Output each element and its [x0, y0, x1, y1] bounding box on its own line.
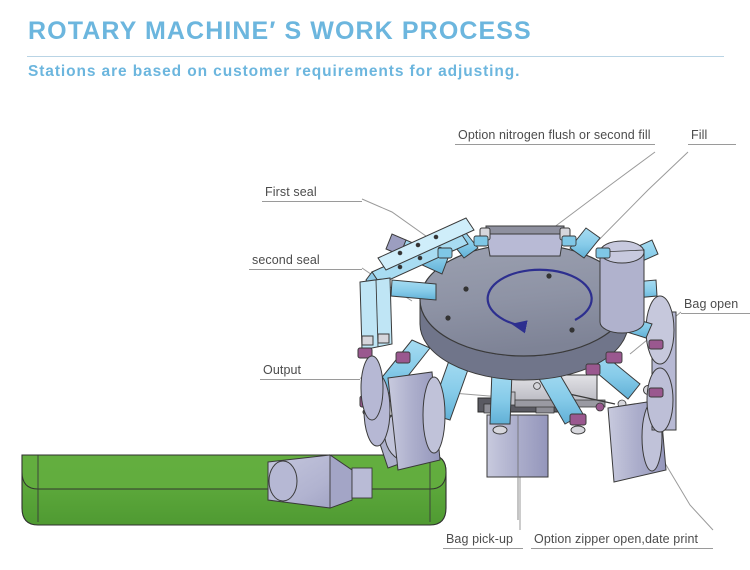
- callout-underline: [260, 379, 360, 380]
- callout-underline: [262, 201, 362, 202]
- callout-label: Output: [260, 363, 360, 379]
- callout-underline: [443, 548, 523, 549]
- callout-label: First seal: [262, 185, 362, 201]
- callout-first-seal: First seal: [262, 185, 362, 202]
- callout-second-seal: second seal: [249, 253, 362, 270]
- callout-underline: [681, 313, 750, 314]
- callout-label: Option nitrogen flush or second fill: [455, 128, 655, 144]
- callout-fill: Fill: [688, 128, 736, 145]
- callout-underline: [455, 144, 655, 145]
- callout-label: Bag open: [681, 297, 750, 313]
- leader-option-nitrogen: [541, 152, 655, 237]
- leader-fill: [583, 152, 688, 256]
- callout-option-nitrogen-flush: Option nitrogen flush or second fill: [455, 128, 655, 145]
- callout-underline: [531, 548, 713, 549]
- fill-hopper: [480, 226, 570, 256]
- outfeed-conveyor: [22, 455, 446, 525]
- callout-bag-open: Bag open: [681, 297, 750, 314]
- rotary-machine-diagram: Option nitrogen flush or second fill Fil…: [0, 0, 750, 570]
- callout-label: second seal: [249, 253, 362, 269]
- diagram-illustration: [0, 0, 750, 570]
- callout-label: Bag pick-up: [443, 532, 523, 548]
- callout-label: Option zipper open,date print: [531, 532, 713, 548]
- rotary-turntable: [420, 244, 628, 380]
- callout-output: Output: [260, 363, 360, 380]
- callout-label: Fill: [688, 128, 736, 144]
- bag-open-station: [646, 296, 676, 432]
- callout-bag-pick-up: Bag pick-up: [443, 532, 523, 549]
- callout-underline: [688, 144, 736, 145]
- callout-underline: [249, 269, 362, 270]
- callout-option-zipper: Option zipper open,date print: [531, 532, 713, 549]
